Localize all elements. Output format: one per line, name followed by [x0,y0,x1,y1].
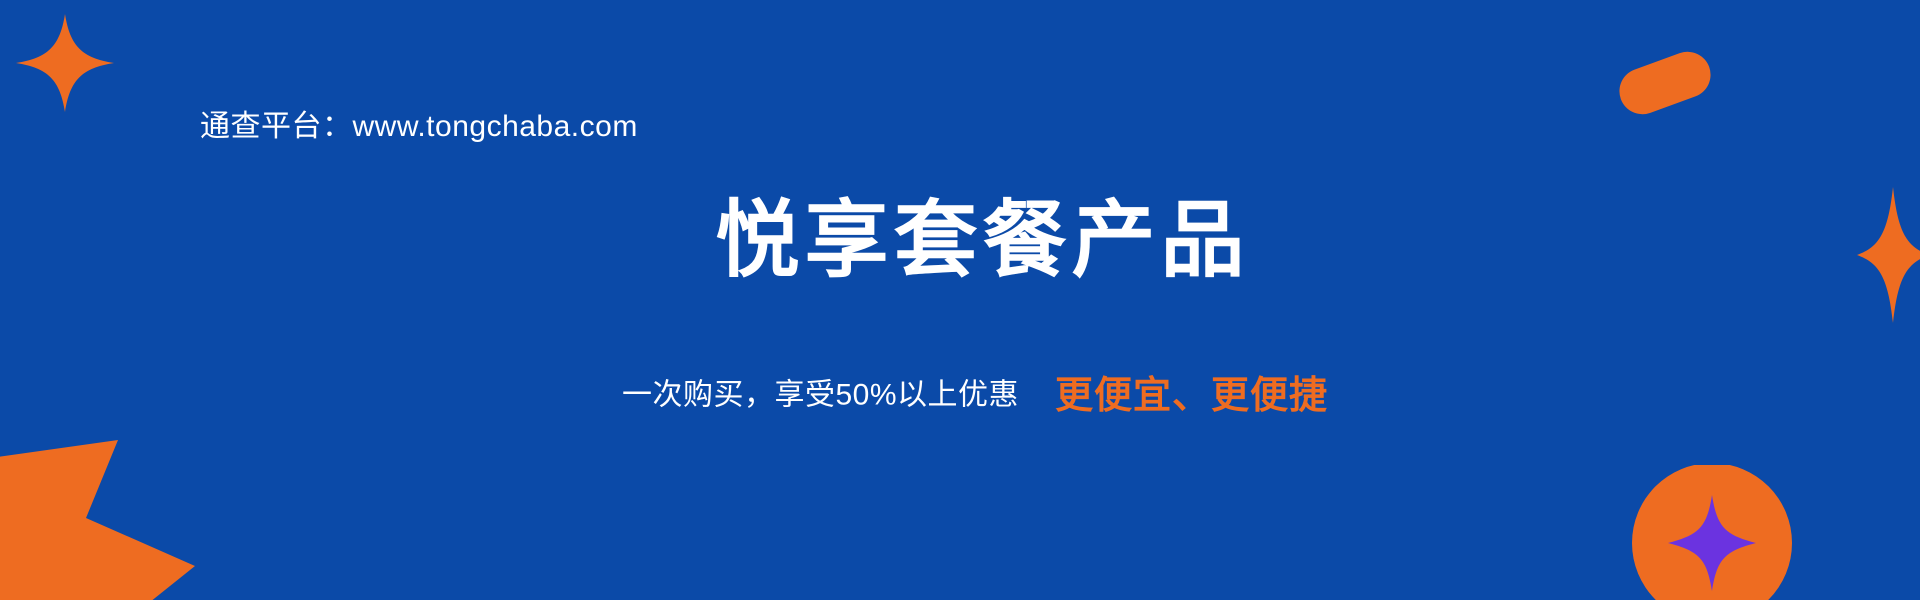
promo-banner: 通查平台：www.tongchaba.com 悦享套餐产品 一次购买，享受50%… [0,0,1920,600]
platform-line: 通查平台：www.tongchaba.com [200,108,638,146]
banner-headline: 悦享套餐产品 [0,196,1920,284]
banner-content: 通查平台：www.tongchaba.com 悦享套餐产品 一次购买，享受50%… [0,0,1920,600]
platform-label: 通查平台： [200,110,353,143]
subtitle-accent-text: 更便宜、更便捷 [1055,375,1328,417]
subtitle-offer-text: 一次购买，享受50%以上优惠 [622,379,1019,412]
banner-subtitle: 一次购买，享受50%以上优惠更便宜、更便捷 [0,364,1920,419]
platform-url: www.tongchaba.com [353,110,638,143]
